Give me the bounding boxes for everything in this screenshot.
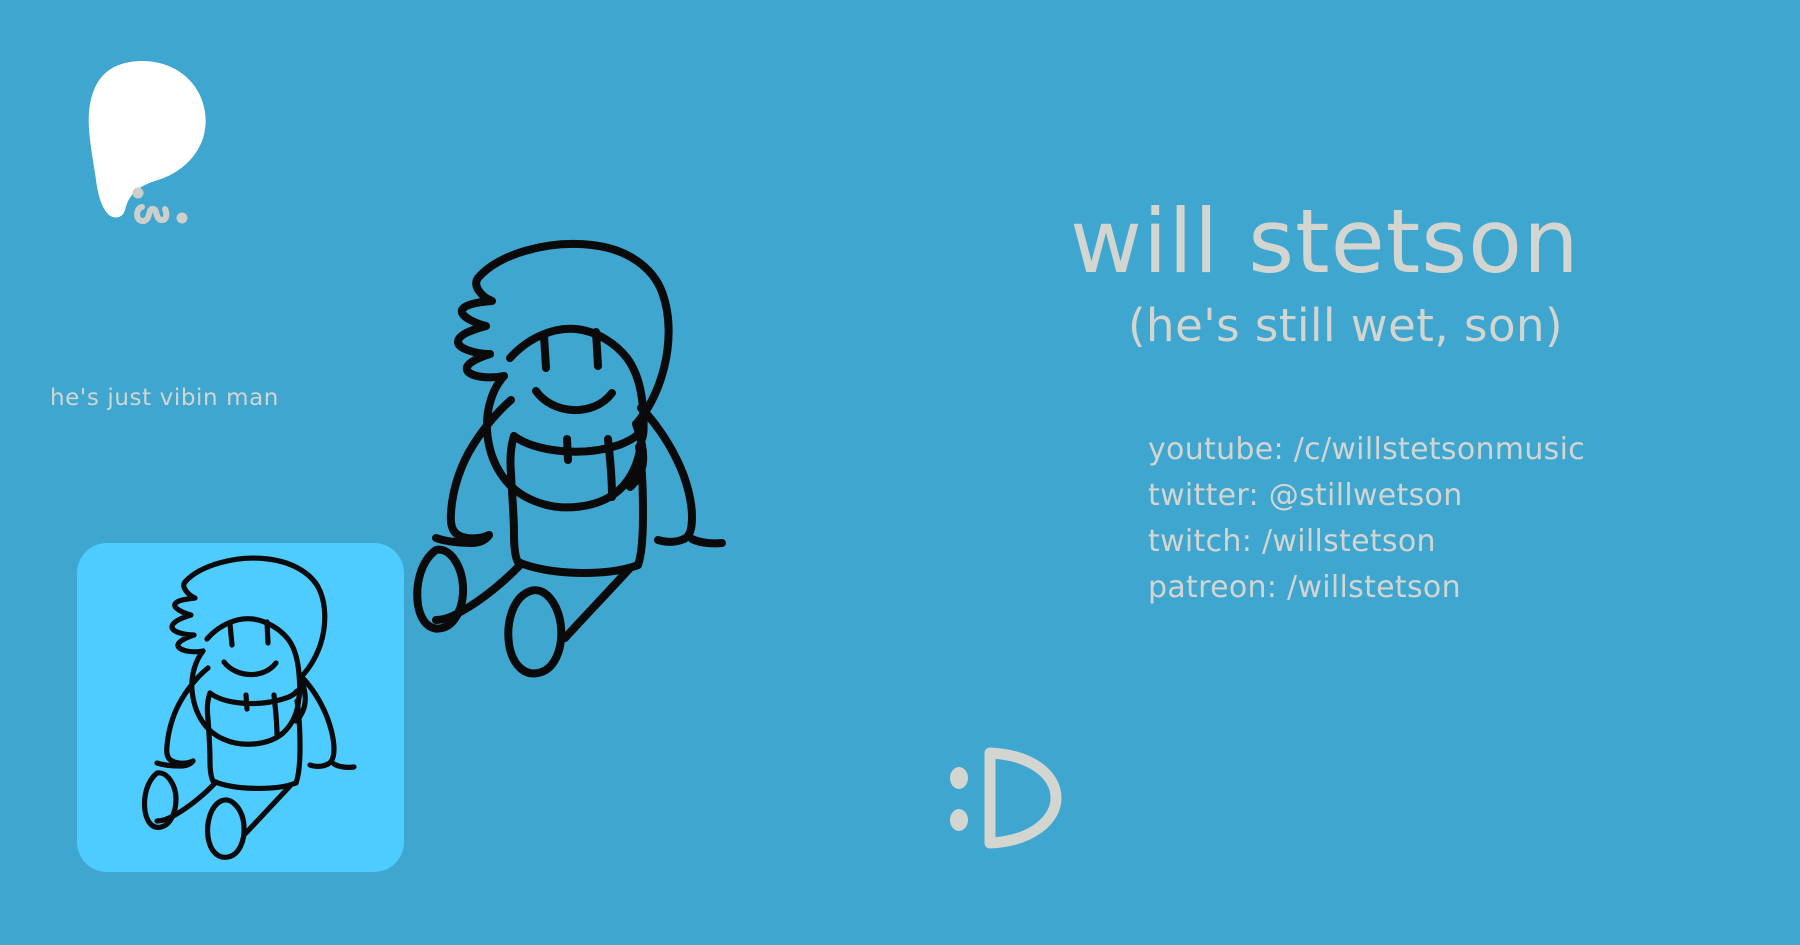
list-item-youtube[interactable]: youtube: /c/willstetsonmusic [1148,427,1770,473]
avatar[interactable] [77,543,404,872]
page-title: will stetson [1070,198,1770,286]
main-doodle-illustration [400,228,840,798]
profile-info-column: will stetson (he's still wet, son) youtu… [1070,198,1770,627]
smiley-emoticon [940,742,1070,852]
signature-mark-icon [130,186,200,228]
list-item-twitch[interactable]: twitch: /willstetson [1148,519,1770,565]
profile-tagline: (he's still wet, son) [1128,302,1770,349]
social-links-list: youtube: /c/willstetsonmusic twitter: @s… [1148,427,1770,611]
list-item-patreon[interactable]: patreon: /willstetson [1148,565,1770,611]
list-item-twitter[interactable]: twitter: @stillwetson [1148,473,1770,519]
left-caption-text: he's just vibin man [50,385,279,411]
banner-canvas: he's just vibin man [0,0,1800,945]
